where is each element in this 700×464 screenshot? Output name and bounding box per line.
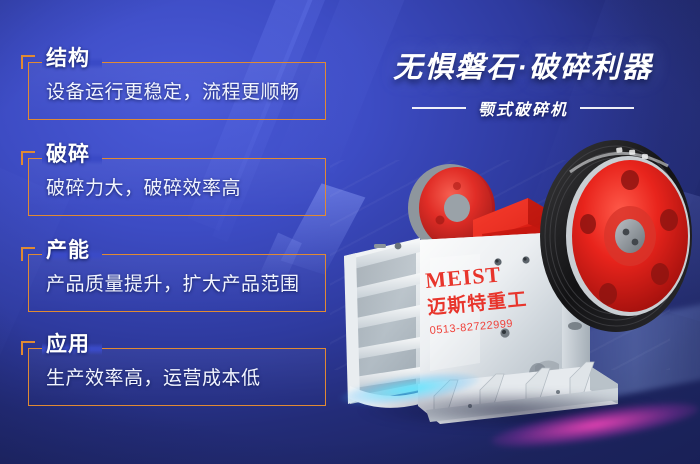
feature-title-row: 产能 [28,236,326,266]
feature-desc: 设备运行更稳定，流程更顺畅 [46,76,326,110]
flywheel [540,140,692,332]
feature-title-row: 结构 [28,44,326,74]
feature-title: 结构 [44,44,100,74]
feature-item: 破碎 破碎力大，破碎效率高 [28,140,326,216]
rule-left-icon [412,107,466,109]
feature-desc: 生产效率高，运营成本低 [46,362,326,396]
rule-right-icon [580,107,634,109]
feature-title: 破碎 [44,140,100,170]
feature-title-row: 应用 [28,330,326,360]
jaw-crusher-image: MEIST 迈斯特重工 0513-82722999 [330,128,700,464]
feature-list: 结构 设备运行更稳定，流程更顺畅 破碎 破碎力大，破碎效率高 产能 产品质量提升… [0,0,350,464]
feature-item: 结构 设备运行更稳定，流程更顺畅 [28,44,326,120]
feature-item: 产能 产品质量提升，扩大产品范围 [28,236,326,312]
feature-title-row: 破碎 [28,140,326,170]
headline-subtitle: 颚式破碎机 [478,96,568,120]
feature-item: 应用 生产效率高，运营成本低 [28,330,326,406]
feature-desc: 破碎力大，破碎效率高 [46,172,326,206]
feature-title: 产能 [44,236,100,266]
feature-title: 应用 [44,330,100,360]
headline-subtitle-row: 颚式破碎机 [358,96,688,120]
headline-main: 无惧磐石·破碎利器 [358,44,688,86]
feature-desc: 产品质量提升，扩大产品范围 [46,268,326,302]
headline-block: 无惧磐石·破碎利器 颚式破碎机 [358,44,688,120]
product-banner: 无惧磐石·破碎利器 颚式破碎机 [0,0,700,464]
